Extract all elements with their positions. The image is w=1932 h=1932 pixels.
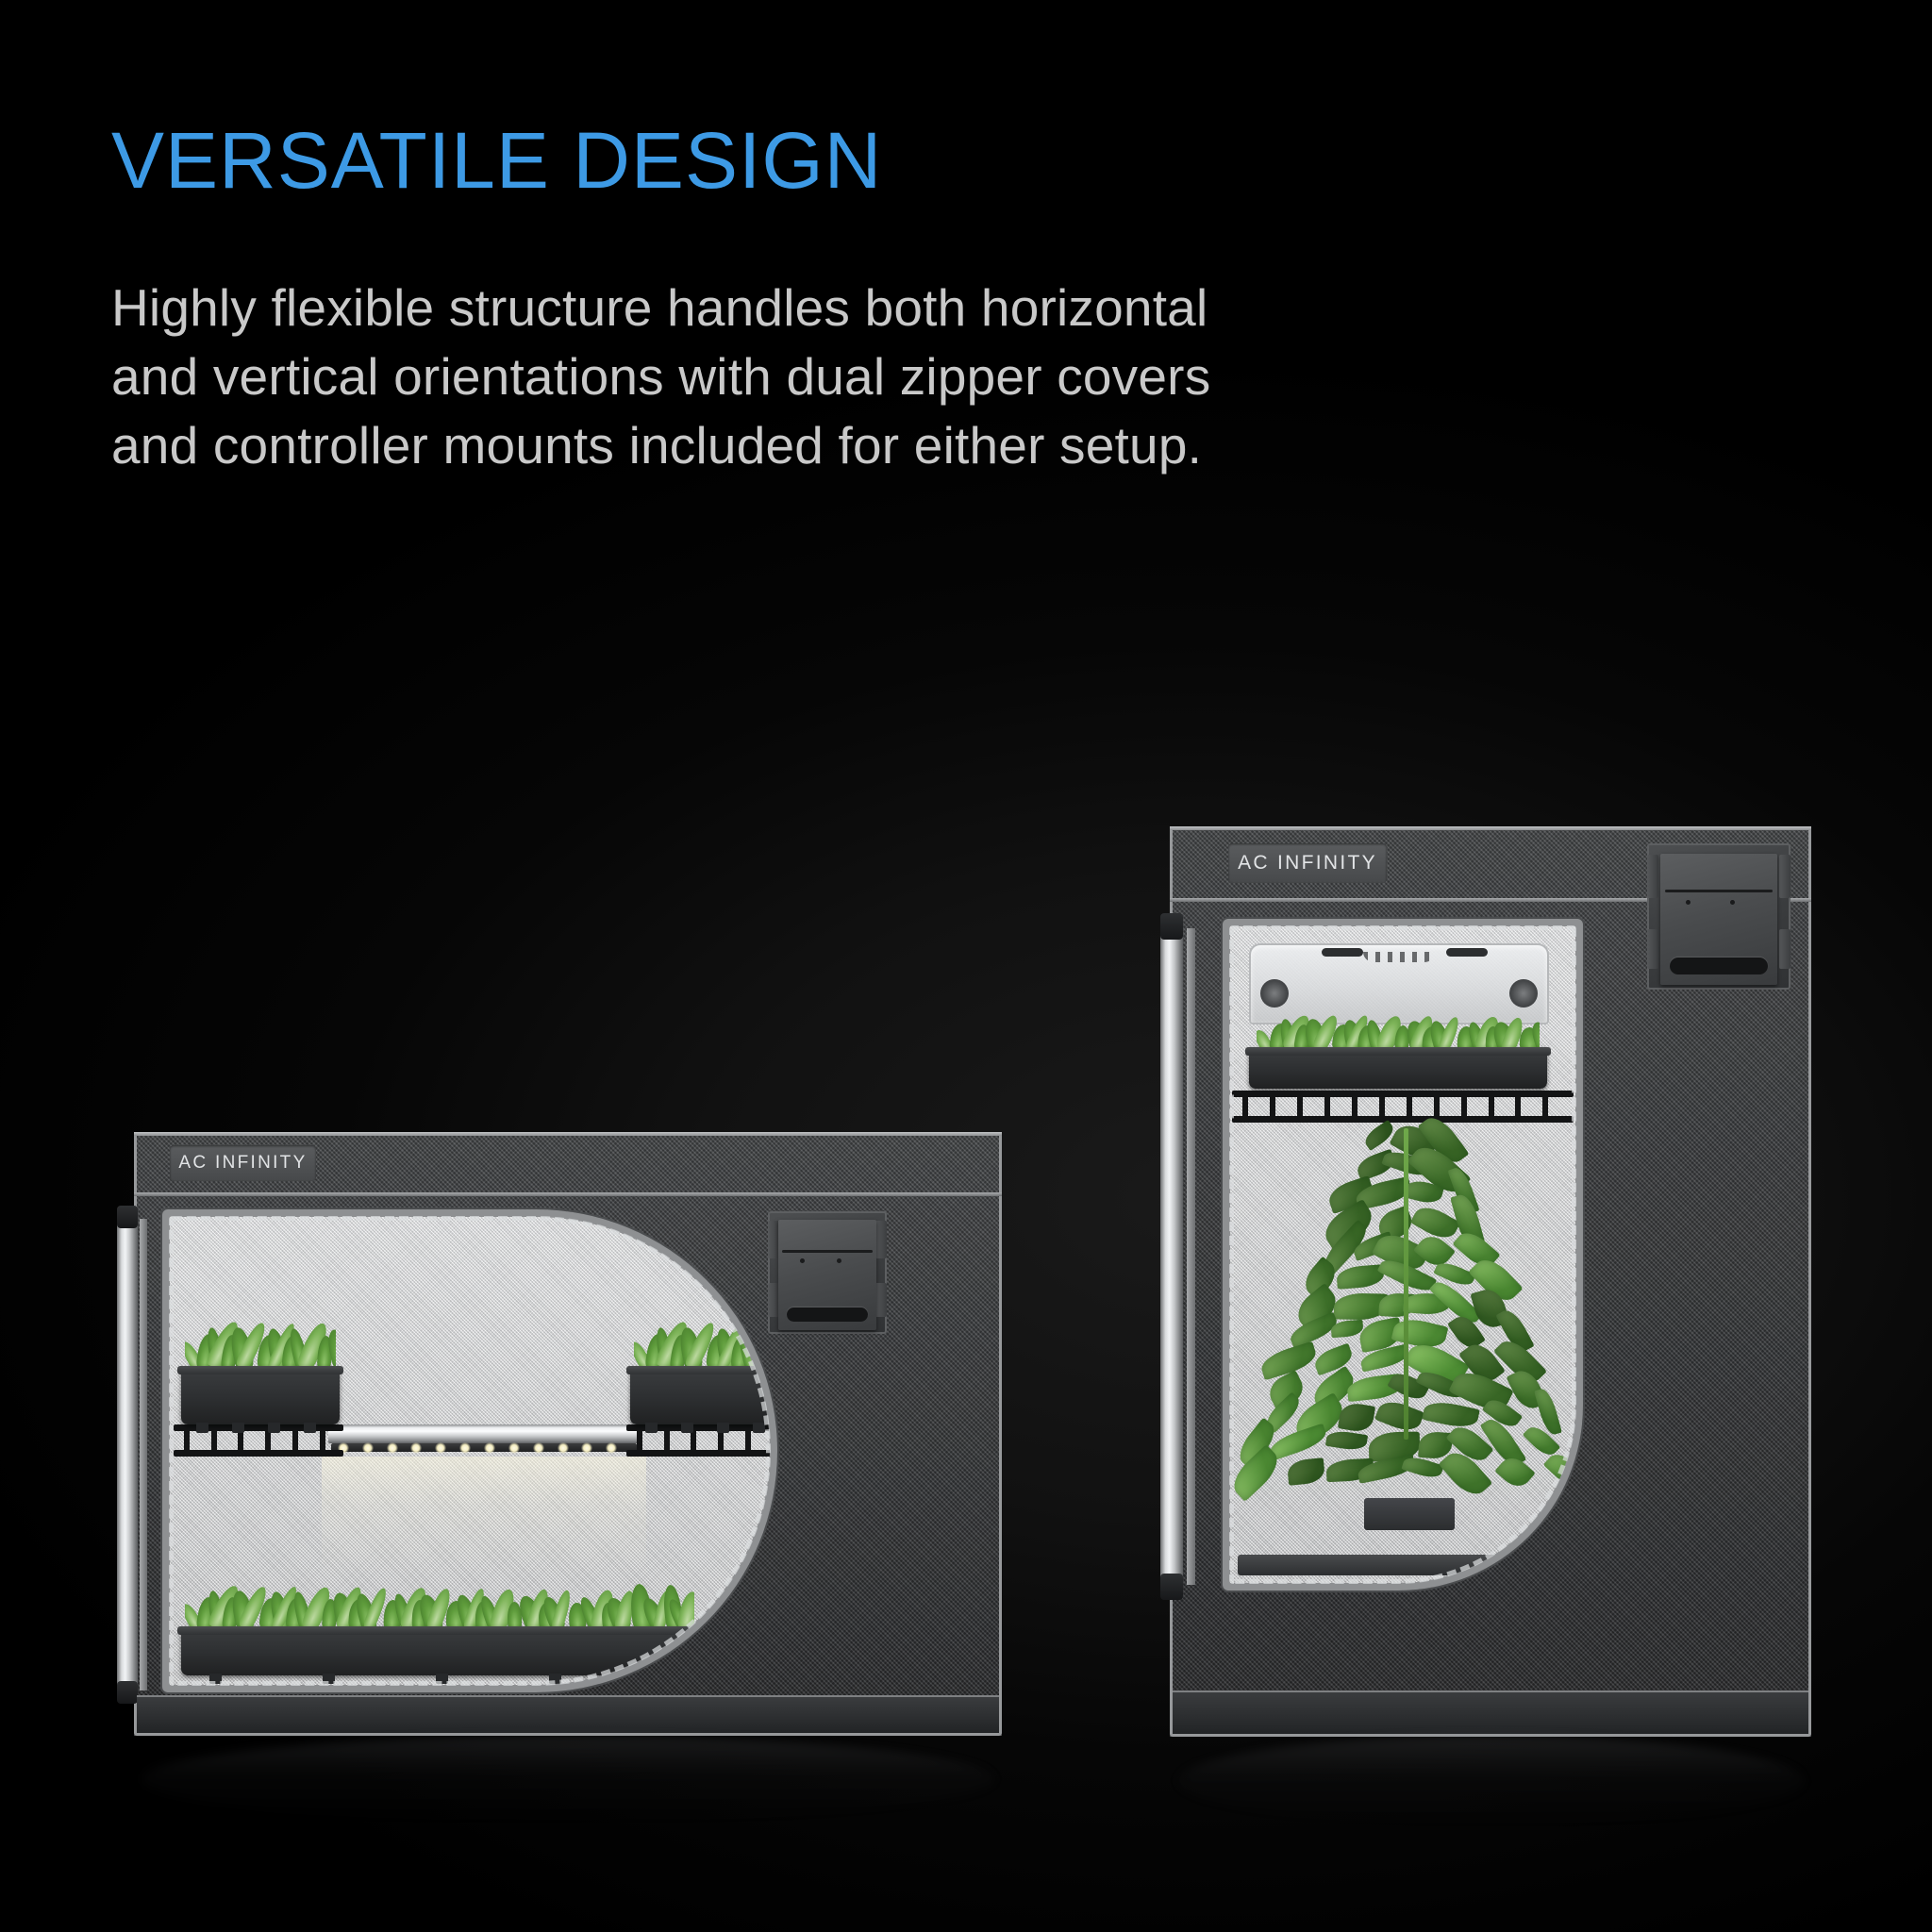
mount-tab-tr [1779, 855, 1790, 898]
mount-screw-dot-right [837, 1258, 841, 1263]
mount-screw-dot-left [1686, 900, 1690, 905]
tent-base-strip-horizontal [137, 1695, 999, 1733]
band-bottom-edge [134, 1192, 1002, 1196]
mount-seam-line [782, 1250, 872, 1253]
description-line-2: and vertical orientations with dual zipp… [111, 342, 1734, 411]
page-title: VERSATILE DESIGN [111, 121, 1790, 200]
controller-mount-vertical[interactable] [1647, 843, 1790, 990]
mount-tab-tr [875, 1221, 887, 1258]
mount-tab-tl [1647, 855, 1658, 898]
horizontal-grow-tent: AC INFINITY [134, 1132, 1002, 1736]
tent-base-strip-vertical [1173, 1690, 1808, 1734]
zipper-rail-left-horizontal [117, 1219, 138, 1690]
mount-tab-br [875, 1283, 887, 1317]
description-line-1: Highly flexible structure handles both h… [111, 274, 1734, 342]
tent-top-band-horizontal: AC INFINITY [134, 1132, 1002, 1196]
controller-mount-plate [778, 1220, 875, 1330]
mount-cable-slot [1670, 958, 1769, 974]
rail-cap-top [117, 1206, 138, 1228]
floor-reflection-vertical [1177, 1736, 1805, 1826]
floor-reflection-horizontal [142, 1736, 995, 1823]
mount-tab-bl [1647, 929, 1658, 969]
band-top-edge [1170, 826, 1811, 830]
mount-seam-line [1665, 890, 1774, 892]
mount-tab-bl [768, 1283, 779, 1317]
description-paragraph: Highly flexible structure handles both h… [111, 274, 1734, 480]
rail-guide-left [140, 1219, 147, 1690]
brand-label: AC INFINITY [178, 1153, 307, 1174]
mount-tab-tl [768, 1221, 779, 1258]
zipper-rail-left-vertical [1160, 928, 1183, 1585]
brand-logo-badge-vertical: AC INFINITY [1228, 843, 1387, 883]
door-zipper-teeth-vertical [1229, 925, 1576, 1584]
rail-cap-bottom [1160, 1574, 1183, 1600]
mount-screw-dot-left [800, 1258, 805, 1263]
brand-logo-badge-horizontal: AC INFINITY [170, 1145, 316, 1181]
rail-cap-top [1160, 913, 1183, 940]
rail-guide-left-vertical [1187, 928, 1195, 1585]
door-zipper-teeth-horizontal [169, 1216, 771, 1686]
brand-label: AC INFINITY [1238, 852, 1377, 874]
controller-mount-plate [1660, 854, 1778, 986]
description-line-3: and controller mounts included for eithe… [111, 411, 1734, 480]
mount-screw-dot-right [1730, 900, 1735, 905]
mount-cable-slot [787, 1307, 869, 1322]
trough-foot [653, 1674, 665, 1684]
vertical-grow-tent: AC INFINITY [1170, 826, 1811, 1737]
band-top-edge [134, 1132, 1002, 1136]
rail-cap-bottom [117, 1681, 138, 1704]
mount-tab-br [1779, 929, 1790, 969]
controller-mount-horizontal[interactable] [768, 1211, 887, 1334]
copy-block: VERSATILE DESIGN Highly flexible structu… [111, 121, 1790, 480]
